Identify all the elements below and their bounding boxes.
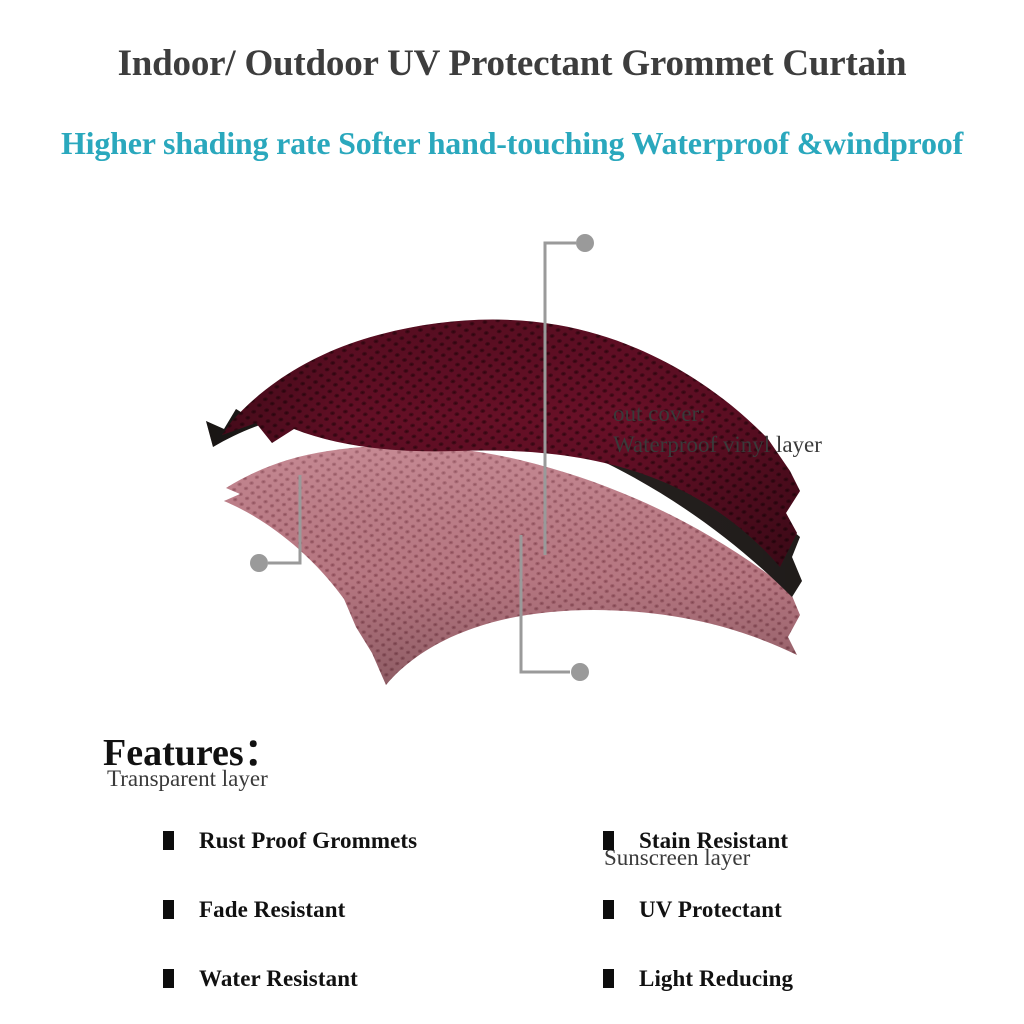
features-section: Features： Rust Proof Grommets Fade Resis…	[0, 706, 1024, 1024]
features-column-right: Stain Resistant UV Protectant Light Redu…	[603, 806, 793, 1013]
bullet-square-icon	[163, 900, 174, 919]
feature-label: Light Reducing	[639, 966, 793, 992]
features-column-left: Rust Proof Grommets Fade Resistant Water…	[163, 806, 417, 1013]
callout-label-outer-cover-line2: Waterproof vinyl layer	[613, 430, 822, 461]
callout-dot-transparent	[250, 554, 268, 572]
bullet-square-icon	[603, 831, 614, 850]
callout-dot-sunscreen	[571, 663, 589, 681]
feature-item: UV Protectant	[603, 875, 793, 944]
bullet-square-icon	[163, 831, 174, 850]
feature-item: Fade Resistant	[163, 875, 417, 944]
feature-item: Water Resistant	[163, 944, 417, 1013]
feature-item: Rust Proof Grommets	[163, 806, 417, 875]
callout-label-outer-cover: out cover: Waterproof vinyl layer	[613, 399, 822, 461]
feature-label: Rust Proof Grommets	[199, 828, 417, 854]
feature-label: UV Protectant	[639, 897, 782, 923]
callout-label-outer-cover-line1: out cover:	[613, 399, 822, 430]
callout-dot-outer-cover	[576, 234, 594, 252]
fabric-layers-diagram	[0, 185, 1024, 705]
bullet-square-icon	[163, 969, 174, 988]
bullet-square-icon	[603, 900, 614, 919]
features-heading: Features：	[103, 721, 282, 776]
feature-item: Stain Resistant	[603, 806, 793, 875]
feature-label: Water Resistant	[199, 966, 358, 992]
page-subtitle: Higher shading rate Softer hand-touching…	[0, 126, 1024, 161]
fabric-layers-illustration: out cover: Waterproof vinyl layer Transp…	[0, 185, 1024, 705]
feature-label: Stain Resistant	[639, 828, 788, 854]
feature-label: Fade Resistant	[199, 897, 345, 923]
feature-item: Light Reducing	[603, 944, 793, 1013]
page-title: Indoor/ Outdoor UV Protectant Grommet Cu…	[0, 44, 1024, 85]
bullet-square-icon	[603, 969, 614, 988]
